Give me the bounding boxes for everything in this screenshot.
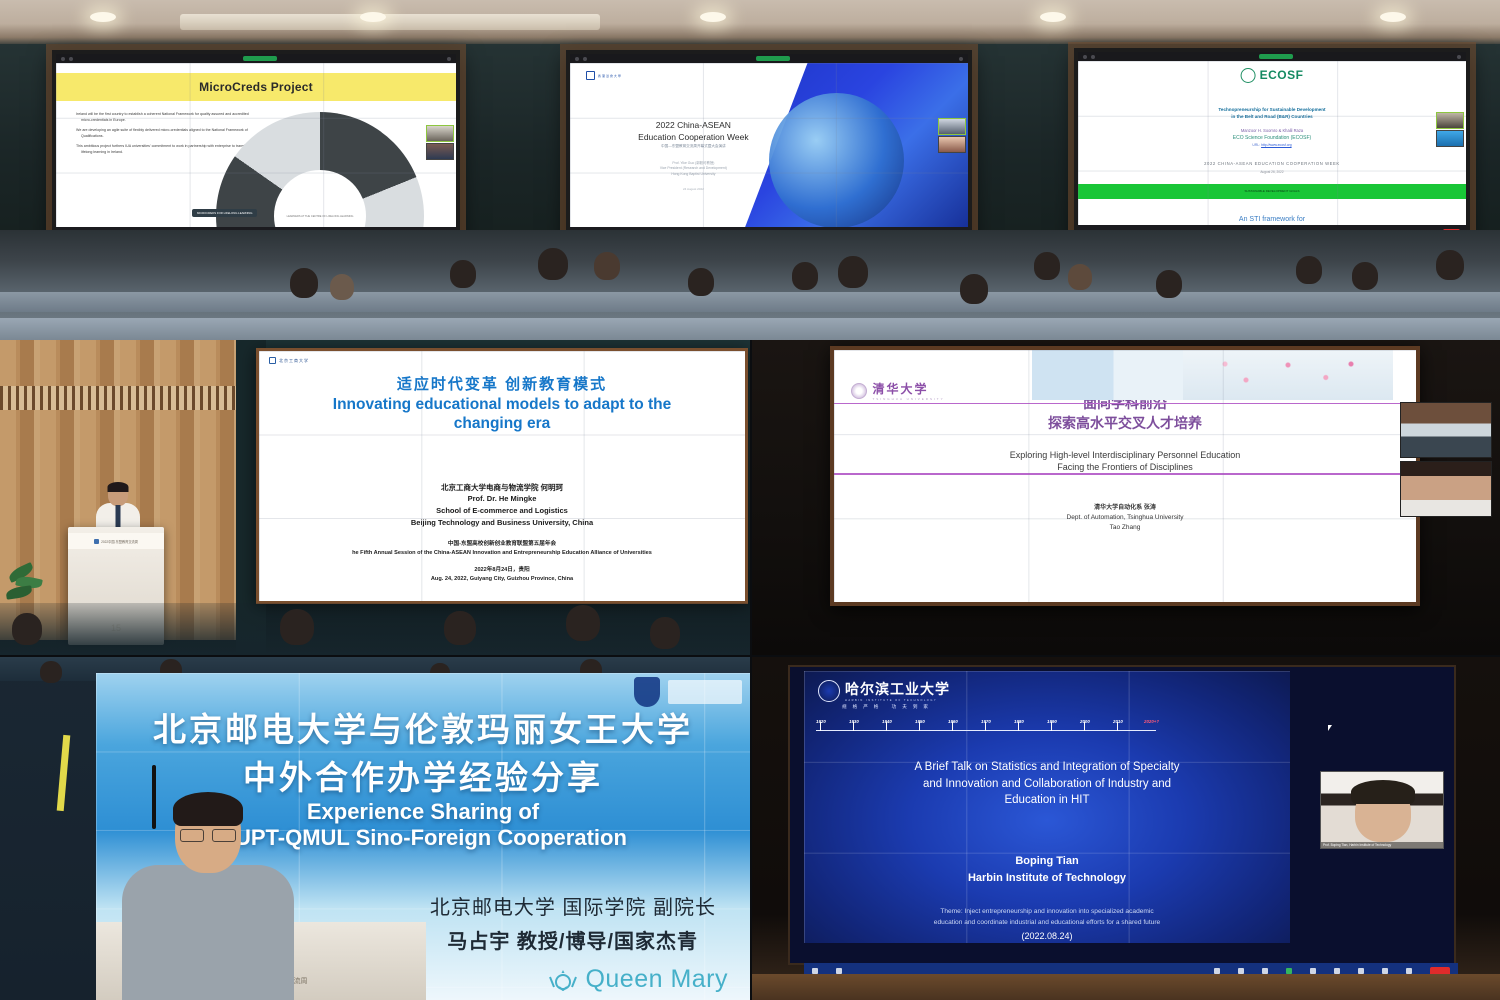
slide-dept-en: Dept. of Automation, Tsinghua University	[1067, 514, 1184, 521]
lattice-decor	[0, 386, 250, 410]
ceiling-light	[360, 12, 386, 22]
hkbu-logo-mark	[586, 71, 595, 80]
zoom-thumbnail-room[interactable]	[426, 125, 454, 142]
slide-title-band: MicroCreds Project	[56, 73, 456, 101]
timeline-year: 2000	[1080, 719, 1090, 724]
panel-hit-keynote: 哈尔滨工业大学 HARBIN INSTITUTE OF TECHNOLOGY 规…	[752, 657, 1500, 1000]
speaker-tie	[116, 505, 121, 529]
zoom-thumbnail-room[interactable]	[938, 118, 966, 135]
attendee-head	[566, 605, 600, 641]
ecosf-logo-text: ECOSF	[1260, 68, 1304, 82]
slide-presenter-cn: 清华大学自动化系 张涛	[1094, 505, 1156, 511]
slide-title-line1: 2022 China-ASEAN	[656, 120, 731, 130]
slide-green-band: SUSTAINABLE DEVELOPMENT GOALS	[1078, 184, 1466, 199]
tsinghua-seal-icon	[851, 383, 867, 399]
slide-hkbu: 香港浸會大學 2022 China-ASEAN Education Cooper…	[570, 63, 968, 227]
microphone	[152, 765, 156, 829]
speaker-hair	[173, 792, 243, 826]
attendee-head	[1068, 264, 1092, 290]
slide-title-line3: Education in HIT	[1004, 794, 1089, 806]
slide-title-line2: and Innovation and Collaboration of Indu…	[923, 778, 1171, 790]
attendee-head	[444, 611, 476, 645]
ceiling-light	[1040, 12, 1066, 22]
btbu-logo: 北京工商大学	[269, 357, 309, 364]
slide-date: 24 August 2022	[590, 187, 797, 191]
projection-screen-btbu: 北京工商大学 适应时代变革 创新教育模式 Innovating educatio…	[256, 348, 748, 604]
desk-row-back	[0, 292, 1500, 312]
slide-footer-badge: MICROCREDS FOR LIFELONG LEARNING	[192, 209, 257, 217]
slide-title-cn: 适应时代变革 创新教育模式	[259, 373, 745, 394]
slide-date: August 26, 2022	[1101, 170, 1442, 174]
hkbu-logo: 香港浸會大學	[586, 71, 622, 80]
slide-event-cn: 中国-东盟高校创新创业教育联盟第五届年会	[448, 541, 556, 547]
timeline-year: 2010	[1113, 719, 1123, 724]
hkbu-logo-text: 香港浸會大學	[598, 74, 622, 78]
slide-ecosf: ECOSF Technopreneurship for Sustainable …	[1078, 61, 1466, 225]
speaker-at-podium	[118, 795, 298, 1000]
slide-title-cn-line2: 探索高水平交叉人才培养	[1048, 415, 1202, 431]
slide-title-cn: 中国—东盟教育交流周开幕式暨大会演讲	[590, 144, 797, 149]
zoom-thumbnail-speaker[interactable]	[1436, 130, 1464, 147]
attendee-head	[1034, 252, 1060, 280]
ecosf-logo: ECOSF	[1241, 68, 1304, 83]
slide-presenter-en: Tao Zhang	[1110, 524, 1141, 531]
slide-title-en-line1: Innovating educational models to adapt t…	[333, 396, 671, 413]
zoom-thumbnail-label: Prof. Boping Tian, Harbin Institute of T…	[1321, 842, 1443, 848]
projection-screen-microcreds: MicroCreds Project Ireland will be the f…	[52, 50, 460, 246]
slide-text-block: Technopreneurship for Sustainable Develo…	[1101, 107, 1442, 174]
slide-title-line1: A Brief Talk on Statistics and Integrati…	[914, 761, 1179, 773]
slide-presenter-role-cn: 北京邮电大学 国际学院 副院长	[430, 891, 716, 920]
slide-event: 2022 CHINA-ASEAN EDUCATION COOPERATION W…	[1101, 161, 1442, 166]
ceiling-vent	[180, 14, 600, 30]
hit-logo-en: HARBIN INSTITUTE OF TECHNOLOGY	[845, 699, 950, 702]
speaker-glasses	[180, 829, 236, 842]
ecosf-url-link[interactable]: http://www.ecosf.org	[1261, 143, 1292, 147]
slide-title-cn-line2: 中外合作办学经验分享	[96, 751, 750, 799]
url-label: URL:	[1252, 143, 1260, 147]
zoom-thumbnail-strip	[426, 125, 454, 161]
zoom-thumbnail-speaker[interactable]: Prof. Boping Tian, Harbin Institute of T…	[1320, 771, 1444, 849]
ceiling	[0, 0, 1500, 46]
ceiling-light	[90, 12, 116, 22]
slide-org: ECO Science Foundation (ECOSF)	[1101, 135, 1442, 141]
slide-date-en: Aug. 24, 2022, Guiyang City, Guizhou Pro…	[431, 576, 573, 582]
panel-bupt-qmul-keynote: 北京邮电大学与伦敦玛丽女王大学 中外合作办学经验分享 Experience Sh…	[0, 657, 750, 1000]
zoom-thumbnail-speaker[interactable]	[1400, 461, 1492, 517]
tsinghua-logo-cn: 清华大学	[872, 380, 944, 397]
attendee-head	[688, 268, 714, 296]
btbu-logo-mark	[269, 357, 276, 364]
slide-title-line1: Technopreneurship for Sustainable Develo…	[1218, 107, 1325, 112]
event-logo-icon	[94, 539, 99, 544]
plum-blossom-graphic	[1183, 350, 1393, 400]
timeline-year: 1990	[1047, 719, 1057, 724]
slide-microcreds: MicroCreds Project Ireland will be the f…	[56, 63, 456, 227]
divider-line-top	[834, 403, 1416, 405]
slide-university-en: Beijing Technology and Business Universi…	[411, 518, 593, 527]
slide-title-line2: Education Cooperation Week	[638, 132, 748, 142]
timeline-year: 1980	[1014, 719, 1024, 724]
timeline-year: 1920	[816, 719, 826, 724]
zoom-titlebar	[56, 54, 456, 63]
slide-presenter-cn: 马占宇 教授/博导/国家杰青	[447, 925, 698, 954]
zoom-titlebar	[570, 54, 968, 63]
audience-area	[0, 230, 1500, 340]
slide-title: MicroCreds Project	[199, 80, 313, 94]
slide-date: (2022.08.24)	[804, 931, 1290, 941]
attendee-head	[838, 256, 868, 288]
ecosf-logo-mark	[1241, 68, 1256, 83]
hit-motto: 规格严格 功夫到家	[842, 704, 934, 710]
attendee-head	[538, 248, 568, 280]
slide-event-en: he Fifth Annual Session of the China-ASE…	[352, 550, 652, 556]
slide-speaker: Prof. Yike Guo (郭毅可教授)	[672, 161, 714, 165]
stage-wood-trim	[752, 974, 1500, 1000]
attendee-head	[1352, 262, 1378, 290]
speaker-lanyard	[57, 735, 71, 811]
slide-affiliation: Hong Kong Baptist University	[671, 172, 715, 176]
panel-btbu-keynote: 北京工商大学 适应时代变革 创新教育模式 Innovating educatio…	[0, 340, 750, 655]
slide-title-line2: in the Belt and Road (B&R) Countries	[1231, 114, 1312, 119]
attendee-head	[594, 252, 620, 280]
attendee-head	[792, 262, 818, 290]
slide-school-en: School of E-commerce and Logistics	[436, 506, 568, 515]
slide-presenter-cn: 北京工商大学电商与物流学院 何明珂	[441, 483, 563, 492]
thumbnail-hair	[1351, 780, 1415, 804]
projection-screen-ecosf: ECOSF Technopreneurship for Sustainable …	[1074, 48, 1470, 244]
timeline-year: 1950	[915, 719, 925, 724]
attendee-head	[450, 260, 476, 288]
hit-seal-icon	[818, 680, 840, 702]
attendee-head	[12, 613, 42, 645]
slide-title-en-line2: changing era	[454, 415, 550, 432]
zoom-thumbnail-room[interactable]	[1400, 402, 1492, 458]
attendee-head	[40, 661, 62, 683]
slide-title-en-line1: Exploring High-level Interdisciplinary P…	[1010, 450, 1241, 460]
attendee-head	[1436, 250, 1464, 280]
conference-photo-collage: MicroCreds Project Ireland will be the f…	[0, 0, 1500, 1000]
slide-hit: 哈尔滨工业大学 HARBIN INSTITUTE OF TECHNOLOGY 规…	[804, 671, 1290, 943]
slide-affiliation: Harbin Institute of Technology	[968, 872, 1126, 884]
bupt-wordmark	[668, 680, 742, 704]
attendee-head	[330, 274, 354, 300]
hit-logo-cn: 哈尔滨工业大学	[845, 679, 950, 699]
panel-lecture-hall: MicroCreds Project Ireland will be the f…	[0, 0, 1500, 340]
attendee-head	[960, 274, 988, 304]
zoom-thumbnail-speaker[interactable]	[426, 143, 454, 160]
attendee-head	[650, 617, 680, 649]
desk-row-front	[0, 318, 1500, 340]
crown-icon	[548, 969, 578, 991]
zoom-thumbnail-strip	[1436, 112, 1464, 148]
speaker-hair	[108, 482, 129, 492]
timeline-graphic: 1920 1930 1940 1950 1960 1970 1980 1990 …	[816, 715, 1156, 735]
attendee-head	[280, 609, 314, 645]
podium-badge: 2022中国-东盟教育交流周	[68, 533, 164, 549]
panel-tsinghua-keynote: 清华大学 TSINGHUA UNIVERSITY 面向学科前沿 探索高水平交叉人…	[752, 340, 1500, 655]
zoom-thumbnail-strip	[1400, 402, 1492, 520]
attendee-head	[290, 268, 318, 298]
hit-logo: 哈尔滨工业大学 HARBIN INSTITUTE OF TECHNOLOGY	[818, 679, 950, 702]
slide-date-cn: 2022年8月24日，贵阳	[474, 567, 529, 573]
timeline-year: 1940	[882, 719, 892, 724]
zoom-thumbnail-speaker[interactable]	[938, 136, 966, 153]
attendee-head	[1156, 270, 1182, 298]
podium-badge-text: 2022中国-东盟教育交流周	[101, 539, 138, 544]
btbu-logo-text: 北京工商大学	[279, 358, 309, 364]
tsinghua-logo-en: TSINGHUA UNIVERSITY	[872, 397, 944, 401]
divider-line-bottom	[834, 473, 1416, 475]
front-row-audience	[0, 603, 750, 655]
tsinghua-logo: 清华大学 TSINGHUA UNIVERSITY	[851, 380, 944, 401]
ceiling-light	[1380, 12, 1406, 22]
queen-mary-logo: Queen Mary	[548, 965, 728, 994]
slide-title-cn-line1: 北京邮电大学与伦敦玛丽女王大学	[96, 703, 750, 751]
speaker-body	[122, 865, 294, 1000]
slide-theme-line2: education and coordinate industrial and …	[934, 919, 1160, 926]
zoom-titlebar	[1078, 52, 1466, 61]
slide-authors: Manzoor H. Soomro & Khalil Raza	[1101, 128, 1442, 133]
projection-screen-hkbu: 香港浸會大學 2022 China-ASEAN Education Cooper…	[566, 50, 972, 246]
slide-text-block: 2022 China-ASEAN Education Cooperation W…	[590, 119, 797, 191]
ceiling-light	[700, 12, 726, 22]
zoom-thumbnail-room[interactable]	[1436, 112, 1464, 129]
slide-title-en-line2: Facing the Frontiers of Disciplines	[1057, 462, 1193, 472]
timeline-year-future: 2020+?	[1144, 719, 1159, 724]
slide-theme-line1: Theme: Inject entrepreneurship and innov…	[940, 908, 1153, 915]
queen-mary-wordmark: Queen Mary	[585, 965, 728, 994]
projection-screen-hit: 哈尔滨工业大学 HARBIN INSTITUTE OF TECHNOLOGY 规…	[788, 665, 1456, 965]
slide-next-heading: An STI framework for	[1078, 216, 1466, 223]
slide-presenter-en: Prof. Dr. He Mingke	[468, 494, 537, 503]
timeline-year: 1960	[948, 719, 958, 724]
mouse-cursor-icon	[1328, 725, 1332, 731]
attendee-head	[1296, 256, 1322, 284]
timeline-year: 1930	[849, 719, 859, 724]
timeline-year: 1970	[981, 719, 991, 724]
projection-screen-tsinghua: 清华大学 TSINGHUA UNIVERSITY 面向学科前沿 探索高水平交叉人…	[830, 346, 1420, 606]
slide-presenter: Boping Tian	[1015, 855, 1078, 867]
zoom-thumbnail-strip	[938, 118, 966, 154]
slide-role: Vice President (Research and Development…	[660, 166, 727, 170]
